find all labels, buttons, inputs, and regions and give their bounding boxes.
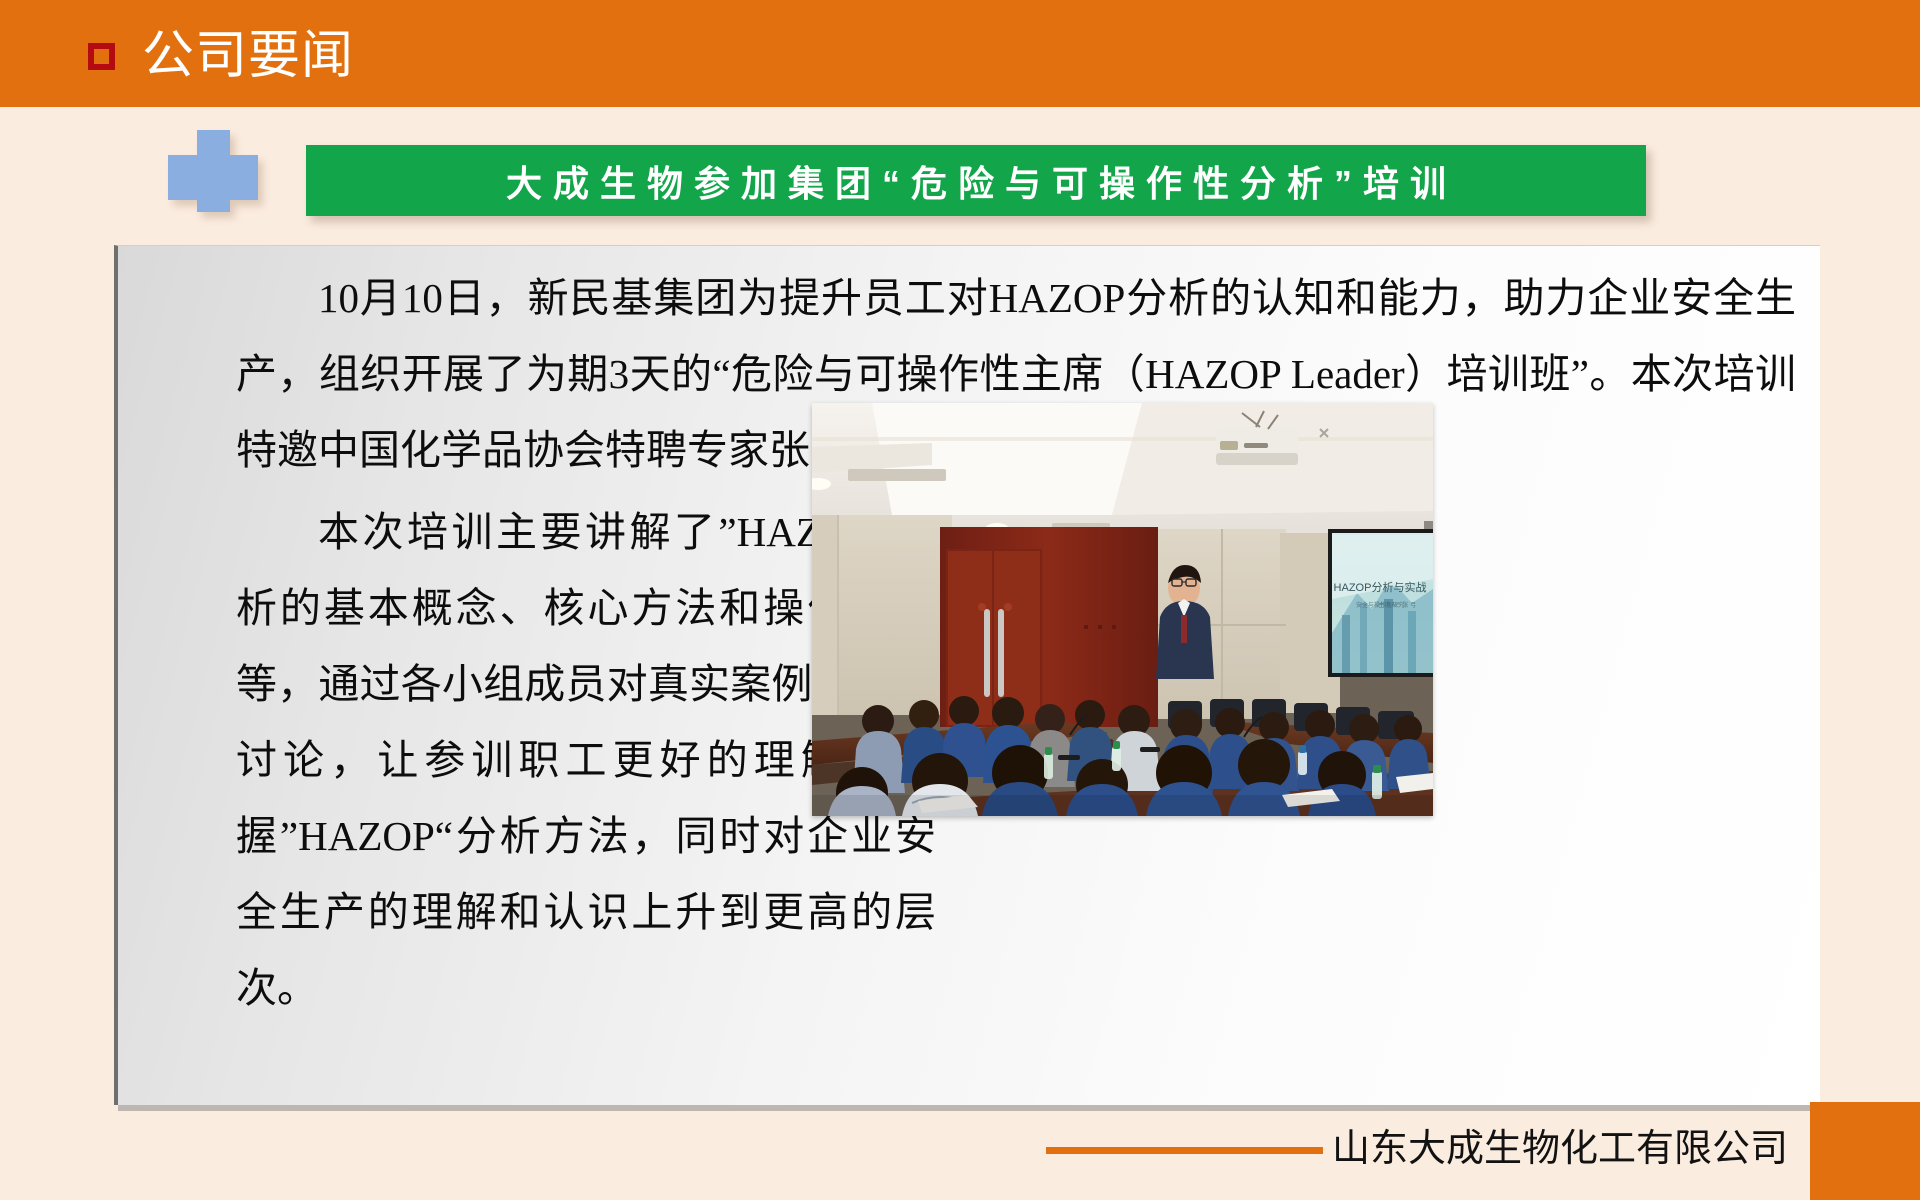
svg-text:主讲人：张 弓: 主讲人：张 弓 (1378, 601, 1416, 609)
cross-horizontal-bar (168, 155, 258, 200)
training-photo-image: HAZOP分析与实战 安全与操作性研究 主讲人：张 弓 (812, 403, 1433, 816)
slide-root: 公司要闻 大成生物参加集团“危险与可操作性分析”培训 10月10日，新民基集团为… (0, 0, 1920, 1200)
header-inner: 公司要闻 (88, 0, 354, 107)
banner-title-bar: 大成生物参加集团“危险与可操作性分析”培训 (306, 145, 1646, 216)
content-panel: 10月10日，新民基集团为提升员工对HAZOP分析的认知和能力，助力企业安全生产… (114, 245, 1820, 1105)
blue-cross-icon (168, 130, 258, 212)
footer-company-name: 山东大成生物化工有限公司 (1332, 1117, 1788, 1172)
page-title: 公司要闻 (142, 30, 354, 82)
svg-text:HAZOP分析与实战: HAZOP分析与实战 (1334, 580, 1427, 594)
footer-left-spacer (0, 1102, 40, 1200)
footer-rule (1046, 1147, 1323, 1154)
square-bullet-icon (88, 43, 115, 70)
banner-title-text: 大成生物参加集团“危险与可操作性分析”培训 (495, 155, 1457, 207)
footer-accent-block (1810, 1102, 1920, 1200)
header-bar: 公司要闻 (0, 0, 1920, 107)
training-photo: HAZOP分析与实战 安全与操作性研究 主讲人：张 弓 (812, 403, 1433, 816)
